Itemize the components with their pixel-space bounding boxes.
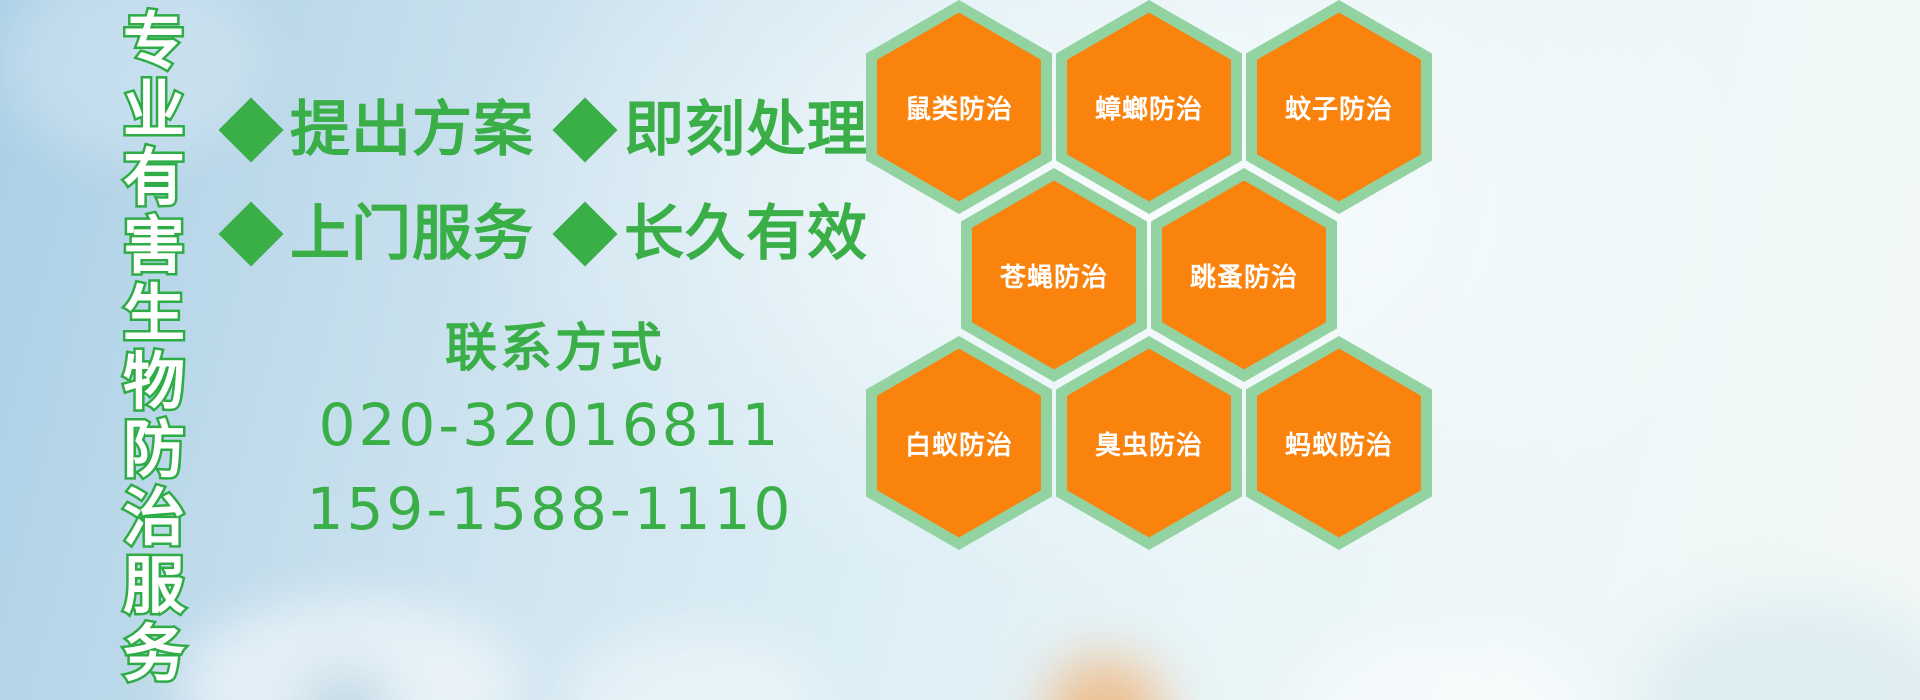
service-label: 苍蝇防治	[1000, 257, 1108, 294]
feature-row: 上门服务 长久有效	[228, 182, 868, 286]
phone-number-landline[interactable]: 020-32016811	[300, 386, 800, 464]
vertical-headline-char: 物	[123, 348, 185, 416]
feature-row: 提出方案 即刻处理	[228, 78, 868, 182]
background-blob	[1640, 600, 1920, 700]
hex-inner: 蚂蚁防治	[1257, 349, 1421, 538]
service-label: 蚂蚁防治	[1285, 425, 1393, 462]
feature-item: 提出方案	[228, 100, 534, 160]
service-hex-mosquito[interactable]: 蚊子防治	[1246, 0, 1432, 214]
hex-inner: 臭虫防治	[1067, 349, 1231, 538]
hex-inner: 跳蚤防治	[1162, 181, 1326, 370]
vertical-headline-char: 服	[123, 552, 185, 620]
diamond-icon	[552, 97, 617, 162]
feature-label: 上门服务	[290, 204, 534, 264]
vertical-headline-char: 治	[123, 484, 185, 552]
feature-label: 即刻处理	[624, 100, 868, 160]
hex-inner: 蟑螂防治	[1067, 13, 1231, 202]
feature-list: 提出方案 即刻处理 上门服务 长久有效	[228, 78, 868, 286]
diamond-icon	[218, 201, 283, 266]
vertical-headline: 专 业 有 害 生 物 防 治 服 务	[108, 8, 200, 688]
service-label: 臭虫防治	[1095, 425, 1203, 462]
background-blob	[300, 670, 390, 700]
service-hex-bedbug[interactable]: 臭虫防治	[1056, 336, 1242, 550]
service-hex-flea[interactable]: 跳蚤防治	[1151, 168, 1337, 382]
service-label: 鼠类防治	[905, 89, 1013, 126]
hex-inner: 蚊子防治	[1257, 13, 1421, 202]
feature-item: 长久有效	[562, 204, 868, 264]
vertical-headline-char: 业	[123, 76, 185, 144]
service-hex-termite[interactable]: 白蚁防治	[866, 336, 1052, 550]
feature-item: 上门服务	[228, 204, 534, 264]
service-label: 白蚁防治	[905, 425, 1013, 462]
vertical-headline-char: 防	[123, 416, 185, 484]
service-honeycomb: 鼠类防治 蟑螂防治 蚊子防治 苍蝇防治 跳蚤防治 白蚁防治	[860, 0, 1470, 548]
background-blob	[1290, 630, 1590, 700]
service-label: 蟑螂防治	[1095, 89, 1203, 126]
service-hex-fly[interactable]: 苍蝇防治	[961, 168, 1147, 382]
service-hex-rodent[interactable]: 鼠类防治	[866, 0, 1052, 214]
vertical-headline-char: 专	[123, 8, 185, 76]
contact-block: 联系方式 020-32016811 159-1588-1110	[300, 318, 800, 548]
vertical-headline-char: 生	[123, 280, 185, 348]
vertical-headline-char: 有	[123, 144, 185, 212]
phone-number-mobile[interactable]: 159-1588-1110	[300, 470, 800, 548]
service-hex-cockroach[interactable]: 蟑螂防治	[1056, 0, 1242, 214]
background-blob	[180, 600, 520, 700]
background-blob	[1045, 658, 1165, 700]
feature-item: 即刻处理	[562, 100, 868, 160]
hex-inner: 苍蝇防治	[972, 181, 1136, 370]
diamond-icon	[552, 201, 617, 266]
service-label: 蚊子防治	[1285, 89, 1393, 126]
hex-inner: 鼠类防治	[877, 13, 1041, 202]
hex-inner: 白蚁防治	[877, 349, 1041, 538]
background-blob	[560, 630, 820, 700]
contact-title: 联系方式	[310, 318, 800, 380]
feature-label: 长久有效	[624, 204, 868, 264]
service-hex-ant[interactable]: 蚂蚁防治	[1246, 336, 1432, 550]
promo-banner: 专 业 有 害 生 物 防 治 服 务 提出方案 即刻处理 上门服务	[0, 0, 1920, 700]
vertical-headline-char: 害	[123, 212, 185, 280]
service-label: 跳蚤防治	[1190, 257, 1298, 294]
feature-label: 提出方案	[290, 100, 534, 160]
vertical-headline-char: 务	[123, 620, 185, 688]
diamond-icon	[218, 97, 283, 162]
